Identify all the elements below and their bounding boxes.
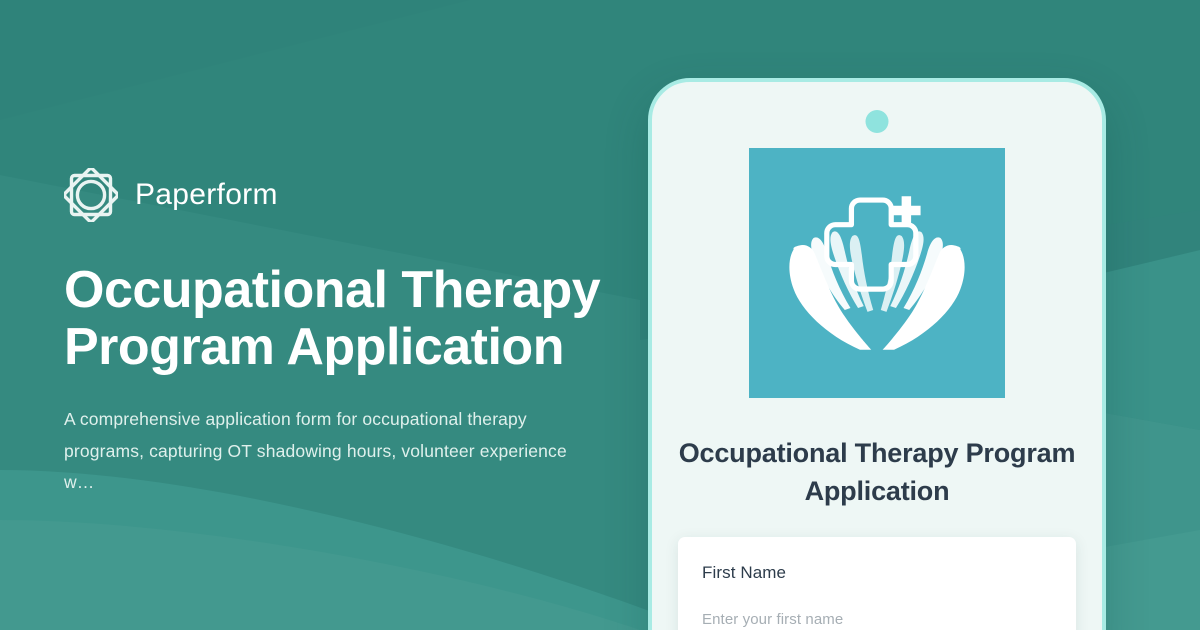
first-name-label: First Name — [702, 563, 1052, 583]
form-hero-image — [749, 148, 1005, 398]
form-preview-title: Occupational Therapy Program Application — [652, 434, 1102, 511]
hero-content: Paperform Occupational Therapy Program A… — [64, 168, 644, 498]
phone-mockup: Occupational Therapy Program Application… — [648, 78, 1106, 630]
hands-holding-medical-cross-icon — [782, 183, 972, 363]
paperform-logo-icon — [64, 168, 118, 222]
first-name-input[interactable]: Enter your first name — [702, 611, 1052, 630]
page-description: A comprehensive application form for occ… — [64, 404, 589, 497]
brand-name: Paperform — [135, 180, 278, 210]
camera-dot-icon — [866, 110, 889, 133]
promo-banner: Paperform Occupational Therapy Program A… — [0, 0, 1200, 630]
form-field-card: First Name Enter your first name — [678, 537, 1076, 630]
brand-lockup: Paperform — [64, 168, 644, 222]
page-title: Occupational Therapy Program Application — [64, 262, 624, 376]
